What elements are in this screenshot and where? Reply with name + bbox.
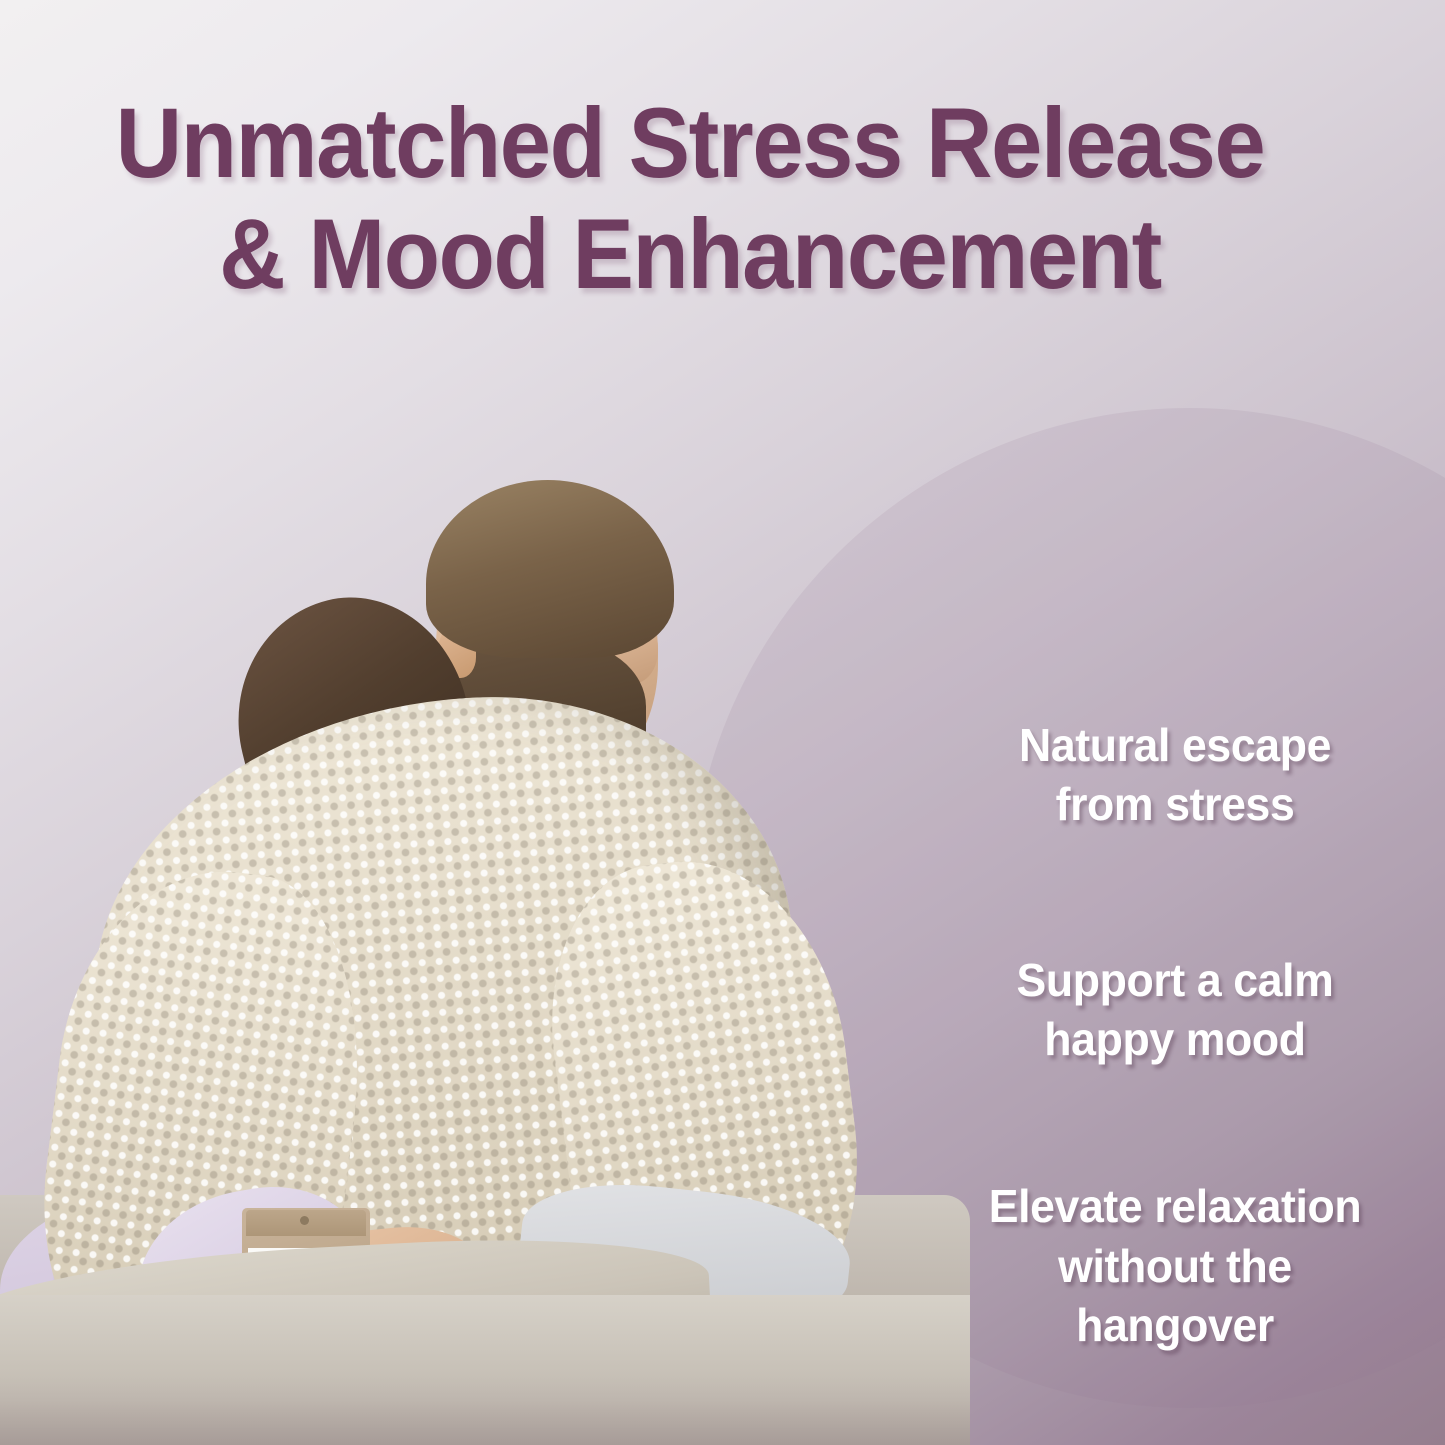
kava-pouch-hang-hole — [300, 1216, 309, 1225]
page-title: Unmatched Stress Release & Mood Enhancem… — [48, 88, 1331, 310]
benefit-item: Natural escape from stress — [933, 716, 1418, 835]
bed-sheet — [0, 1295, 970, 1445]
promo-canvas: coral sea KAVA Premium Instant Green Kav… — [0, 0, 1445, 1445]
benefits-list: Natural escape from stress Support a cal… — [925, 716, 1425, 1355]
benefit-item: Elevate relaxation without the hangover — [933, 1177, 1418, 1355]
lifestyle-photo: coral sea KAVA Premium Instant Green Kav… — [0, 430, 970, 1445]
man-hair — [426, 480, 674, 658]
benefit-item: Support a calm happy mood — [933, 951, 1418, 1070]
